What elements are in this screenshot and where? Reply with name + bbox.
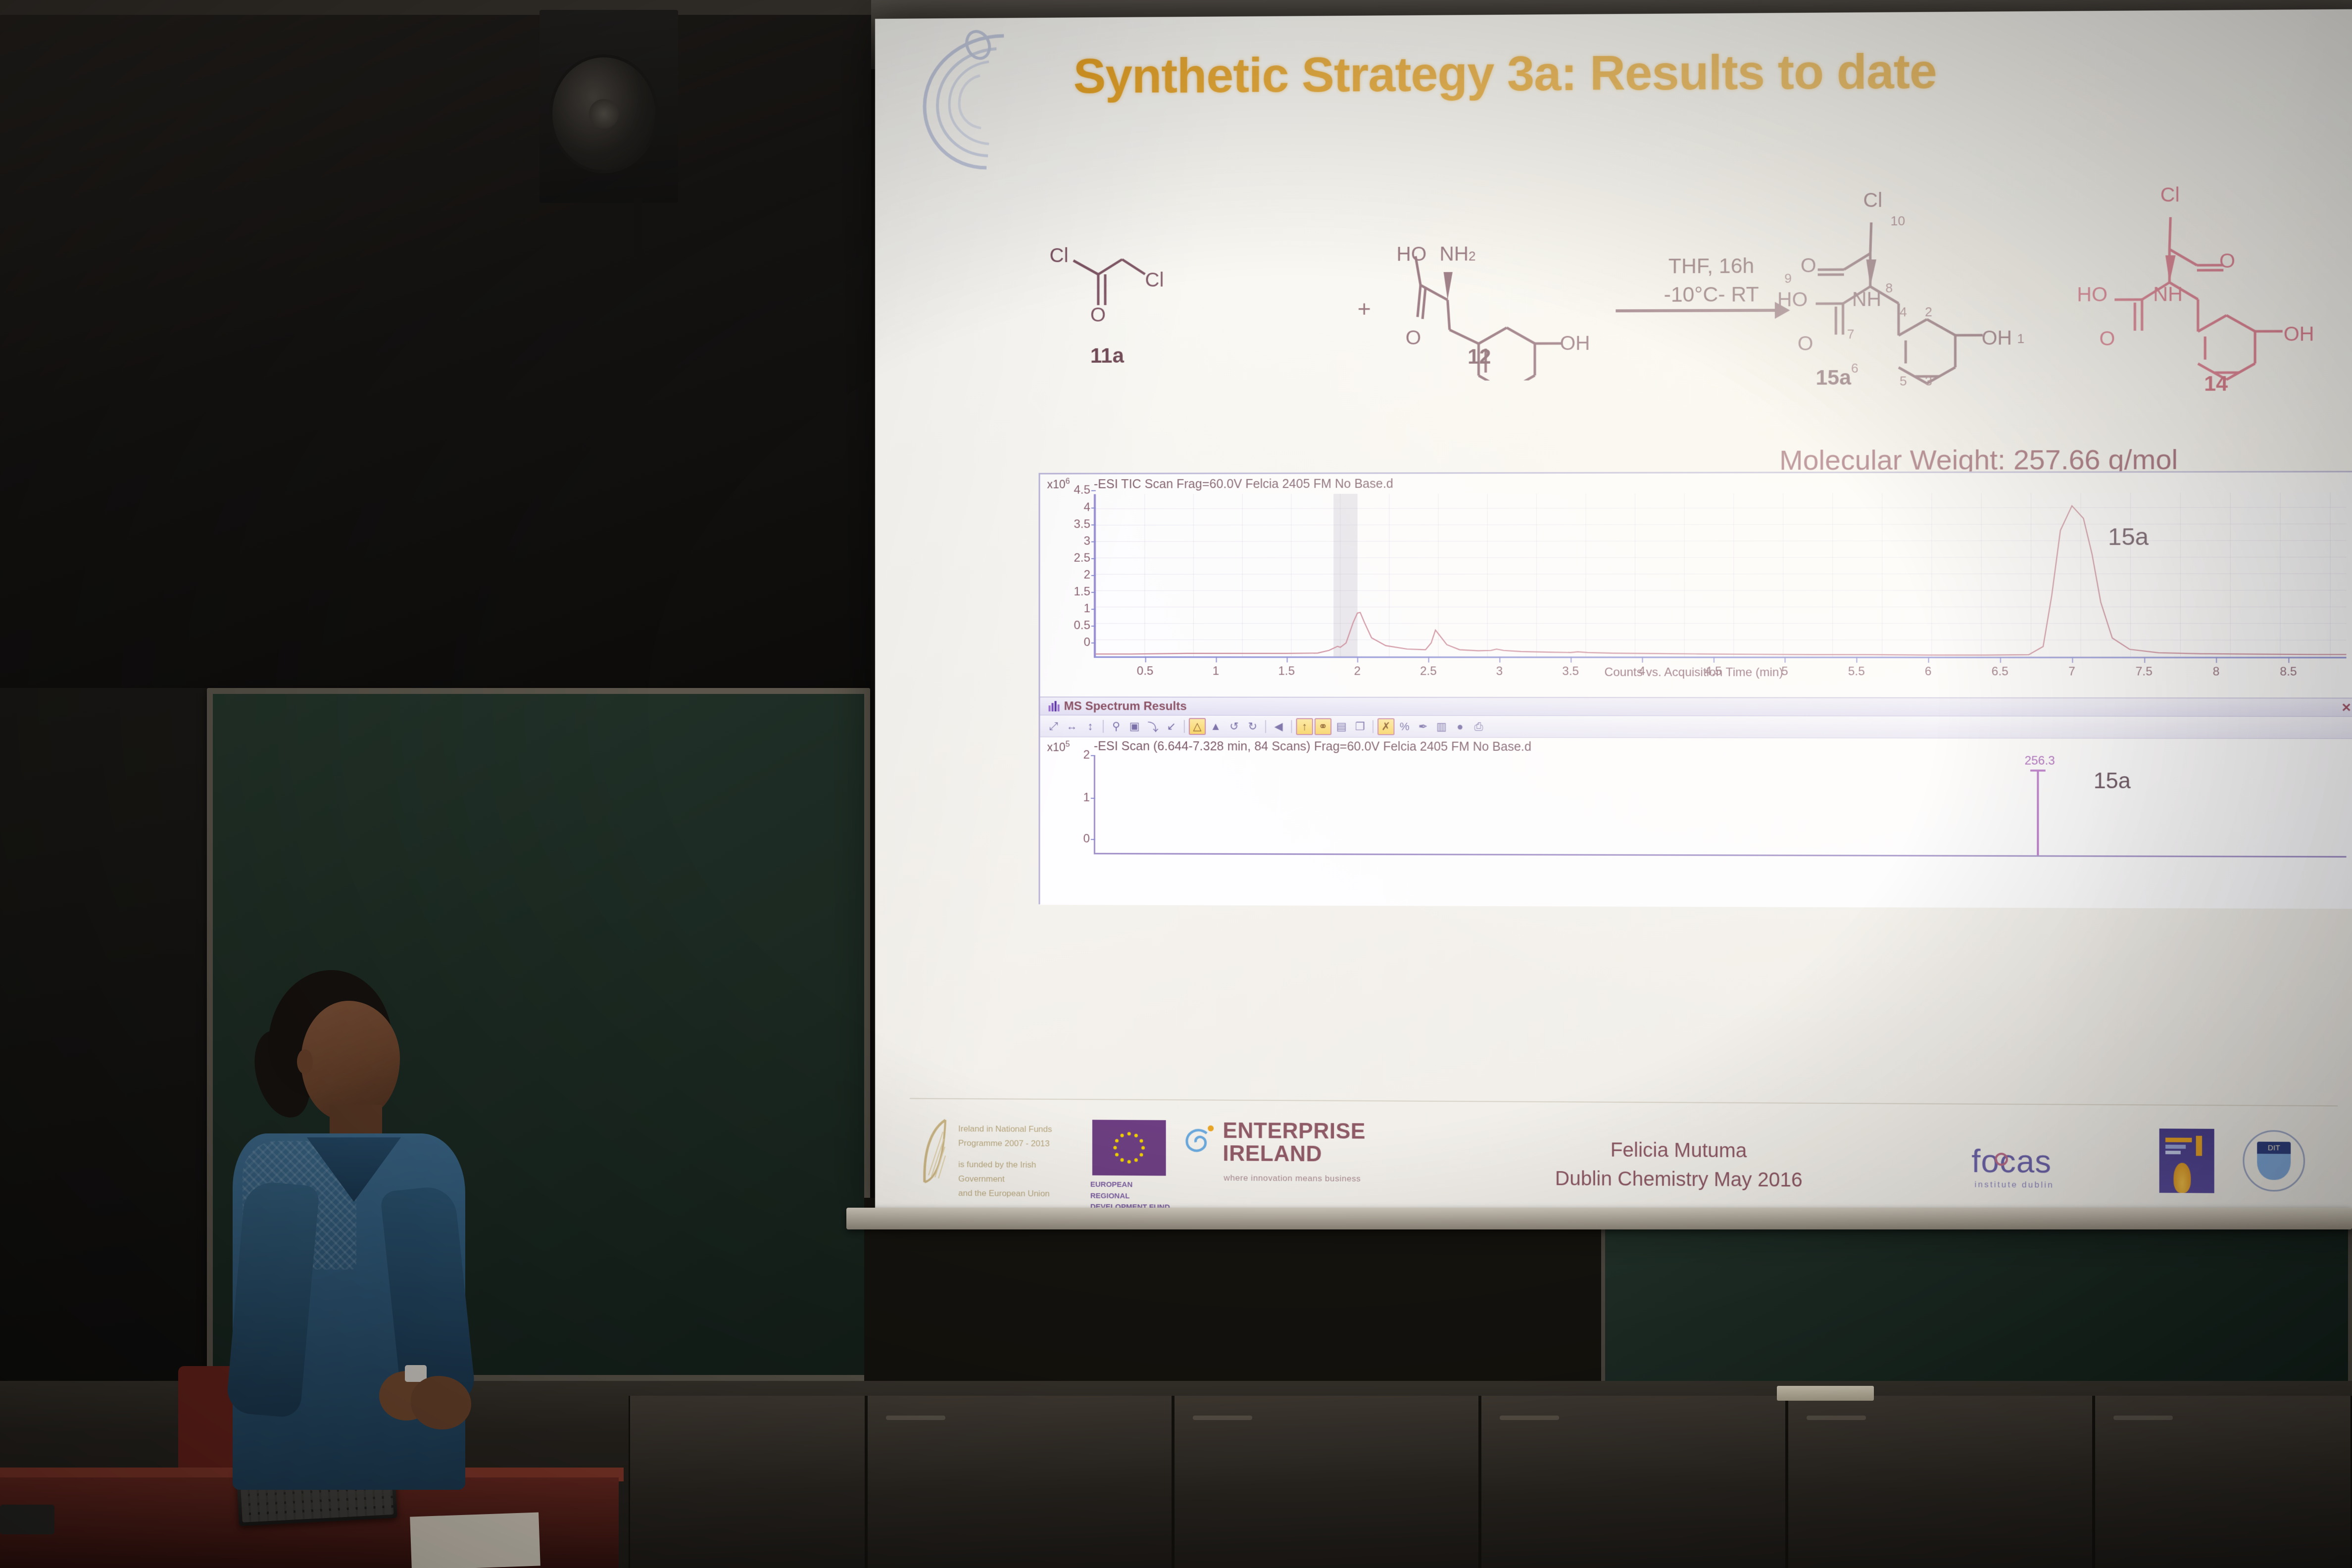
tic-x-tick: 3.5	[1562, 657, 1579, 679]
ring-number-4: 4	[1900, 304, 1907, 320]
atom-cl: Cl	[1145, 269, 1164, 292]
ms-spectrum-toolbar[interactable]: ⤢↔↕⚲▣⤵↙△▲↺↻◀↑⚭▤❐✗%✒▥●⎙	[1040, 715, 2352, 738]
chalk-eraser[interactable]	[1777, 1386, 1874, 1401]
enterprise-ireland-tagline: where innovation means business	[1224, 1173, 1361, 1184]
ring-number-6: 6	[1851, 360, 1859, 376]
paper-sheet	[410, 1512, 540, 1568]
atom-o: O	[1798, 333, 1813, 355]
presenter-event: Dublin Chemistry May 2016	[1437, 1164, 1920, 1195]
atom-cl: Cl	[1050, 245, 1069, 267]
ring-number-2: 2	[1925, 304, 1932, 320]
tic-x-tick: 8.5	[2280, 657, 2297, 679]
tic-trace	[1096, 492, 2347, 657]
tic-y-tick: 3	[1083, 534, 1095, 548]
ms-spectrum-panel: x105 -ESI Scan (6.644-7.328 min, 84 Scan…	[1040, 737, 2352, 909]
undo-icon[interactable]: ↺	[1225, 718, 1242, 735]
page-title: Synthetic Strategy 3a: Results to date	[1074, 42, 2195, 104]
cabinet-door[interactable]	[1173, 1396, 1480, 1568]
irish-harp-icon	[920, 1117, 951, 1186]
tic-y-tick: 4.5	[1074, 484, 1096, 497]
reaction-scheme: Cl Cl O 11a +	[1038, 200, 2348, 390]
tic-x-tick: 6	[1925, 657, 1932, 679]
toolbar-separator	[1103, 720, 1104, 733]
annotate-icon[interactable]: ✒	[1415, 718, 1431, 735]
dit-logo-bars	[2165, 1135, 2202, 1156]
palette-icon[interactable]: ●	[1452, 718, 1469, 735]
ring-number-10: 10	[1891, 213, 1906, 229]
back-arrow-icon[interactable]: ◀	[1270, 718, 1287, 735]
ms-plot-area[interactable]: 0 1 2 256.3 15a	[1094, 755, 2347, 858]
cabinet-handle[interactable]	[1193, 1416, 1252, 1420]
structure-14-bonds	[2105, 196, 2352, 388]
atom-oh: OH	[1560, 333, 1590, 355]
resize-icon[interactable]: ⤢	[1045, 718, 1062, 735]
ms-peak-stick: 256.3	[2037, 771, 2039, 855]
tic-y-tick: 4	[1083, 500, 1095, 514]
harp-text-line2: Programme 2007 - 2013	[958, 1136, 1082, 1151]
ceiling-band	[0, 0, 886, 15]
ring-number-3: 3	[1925, 373, 1932, 389]
tic-x-tick: 0.5	[1137, 656, 1154, 678]
toolbar-separator	[1372, 720, 1373, 733]
tic-y-tick: 0.5	[1074, 619, 1096, 633]
presenter-face	[301, 1001, 400, 1121]
ring-number-8: 8	[1885, 281, 1893, 296]
print-icon[interactable]: ⎙	[1470, 718, 1487, 735]
tic-y-tick: 2.5	[1074, 551, 1096, 565]
ms-mz-label: 256.3	[2024, 754, 2055, 768]
atom-oh: OH	[1982, 327, 2012, 350]
atom-o: O	[2099, 328, 2115, 350]
government-funding-text: Ireland in National Funds Programme 2007…	[958, 1122, 1082, 1201]
tic-header-text: -ESI TIC Scan Frag=60.0V Felcia 2405 FM …	[1094, 477, 1393, 491]
bar-chart-icon	[1048, 700, 1060, 711]
atom-oh: OH	[2284, 323, 2314, 346]
enterprise-line1: ENTERPRISE	[1223, 1120, 1366, 1143]
cabinet-handle[interactable]	[1500, 1416, 1559, 1420]
tic-y-exponent: x106	[1047, 477, 1070, 491]
tic-x-tick: 3	[1496, 657, 1503, 679]
atom-ho: HO	[2077, 284, 2107, 306]
atom-o: O	[1090, 304, 1106, 326]
ms-y-exponent: x105	[1047, 740, 1070, 754]
focas-subtitle: institute dublin	[1974, 1179, 2054, 1190]
atom-cl: Cl	[1863, 190, 1882, 212]
atom-o: O	[2219, 250, 2235, 273]
desk-object	[0, 1505, 54, 1534]
speaker-cone-icon	[549, 54, 658, 173]
tic-plot-area[interactable]: 15a 00.511.522.533.544.50.511.522.533.54…	[1094, 492, 2347, 658]
wall-upper	[0, 0, 871, 688]
reaction-conditions-line1: THF, 16h	[1628, 252, 1795, 281]
tic-x-tick: 5.5	[1848, 657, 1865, 679]
horizontal-expand-icon[interactable]: ↔	[1064, 718, 1080, 735]
ms-header-text: -ESI Scan (6.644-7.328 min, 84 Scans) Fr…	[1094, 739, 1531, 754]
enterprise-line2: IRELAND	[1223, 1142, 1366, 1166]
cabinet-handle[interactable]	[886, 1416, 945, 1420]
ring-number-7: 7	[1847, 327, 1855, 342]
integrate-peak-icon[interactable]: △	[1189, 718, 1206, 735]
toolbar-separator	[1291, 720, 1292, 733]
tic-x-tick: 1.5	[1278, 656, 1295, 678]
ms-y-tick: 0	[1083, 832, 1095, 846]
harp-text-line1: Ireland in National Funds	[958, 1122, 1082, 1137]
presenter	[233, 970, 539, 1490]
toolbar-separator	[1184, 720, 1185, 733]
ms-y-tick: 2	[1083, 748, 1095, 762]
close-icon[interactable]: ✕	[2341, 701, 2352, 715]
up-arrow-icon[interactable]: ↑	[1296, 718, 1313, 735]
tic-x-tick: 8	[2213, 657, 2220, 679]
chalkboard-surface-right	[1605, 1226, 2348, 1382]
autoscale-icon[interactable]: ⤵	[1144, 718, 1161, 735]
compound-label-15a: 15a	[1815, 366, 1851, 390]
tic-y-tick: 1	[1083, 602, 1095, 616]
speaker-stem	[634, 198, 642, 252]
enterprise-ireland-wordmark: ENTERPRISE IRELAND	[1223, 1120, 1366, 1166]
compound-label-12: 12	[1468, 344, 1491, 368]
ring-number-9: 9	[1784, 271, 1792, 286]
tic-y-tick: 0	[1083, 636, 1095, 649]
cabinet-handle[interactable]	[2113, 1416, 2173, 1420]
plus-sign: +	[1358, 295, 1371, 322]
screen-bottom-bar	[846, 1208, 2352, 1229]
ring-number-1: 1	[2017, 331, 2024, 346]
footer-divider	[910, 1098, 2338, 1106]
reaction-arrow-icon	[1616, 309, 1787, 312]
tic-y-tick: 3.5	[1074, 517, 1096, 531]
harp-text-line3: is funded by the Irish Government	[958, 1158, 1082, 1187]
link-icon[interactable]: ⚭	[1315, 718, 1331, 735]
percent-icon[interactable]: %	[1396, 718, 1413, 735]
atom-o: O	[1406, 327, 1421, 349]
enterprise-ireland-spiral-icon	[1183, 1123, 1216, 1156]
atom-nh2: NH2	[1440, 243, 1476, 266]
atom-nh: NH	[2153, 284, 2182, 306]
presenter-ear	[297, 1049, 313, 1074]
harp-text-line4: and the European Union	[958, 1186, 1082, 1201]
tic-y-tick: 2	[1083, 568, 1095, 582]
vertical-expand-icon[interactable]: ↕	[1082, 718, 1099, 735]
focas-o-ring-icon	[1995, 1153, 2008, 1166]
dit-flame-icon	[2173, 1163, 2191, 1193]
toolbar-separator	[1265, 720, 1266, 733]
tic-x-tick: 2	[1354, 656, 1361, 678]
atom-nh: NH	[1852, 289, 1881, 311]
redo-icon[interactable]: ↻	[1244, 718, 1261, 735]
presenter-name: Felicia Mutuma	[1437, 1134, 1920, 1166]
masshunter-window: x106 -ESI TIC Scan Frag=60.0V Felcia 240…	[1038, 471, 2352, 908]
eu-flag-icon	[1092, 1120, 1166, 1176]
baseline-icon[interactable]: ↙	[1163, 718, 1180, 735]
tic-y-tick: 1.5	[1074, 585, 1096, 599]
focas-wordmark: focas	[1971, 1142, 2052, 1180]
multi-peak-icon[interactable]: ▲	[1207, 718, 1224, 735]
crest-shield: DIT	[2257, 1142, 2291, 1180]
atom-ho: HO	[1777, 289, 1808, 311]
copy-icon[interactable]: ❐	[1352, 718, 1369, 735]
table-icon[interactable]: ▤	[1333, 718, 1350, 735]
reaction-conditions-line2: -10°C- RT	[1628, 280, 1795, 309]
zoom-icon[interactable]: ⚲	[1108, 718, 1125, 735]
compound-label-11a: 11a	[1090, 344, 1124, 368]
reaction-conditions: THF, 16h -10°C- RT	[1628, 252, 1795, 309]
tic-x-tick: 6.5	[1992, 657, 2009, 679]
swirl-decoration-icon	[905, 26, 1069, 186]
ms-spectrum-title-bar[interactable]: MS Spectrum Results ✕	[1040, 697, 2352, 717]
delete-icon[interactable]: ✗	[1377, 718, 1394, 735]
ms-spectrum-title: MS Spectrum Results	[1064, 699, 1187, 713]
cabinet-handle[interactable]	[1807, 1416, 1866, 1420]
tic-x-tick: 1	[1213, 656, 1219, 678]
university-crest-icon: DIT	[2243, 1130, 2305, 1192]
zoom-box-icon[interactable]: ▣	[1126, 718, 1143, 735]
ms-peak-annotation: 15a	[2094, 769, 2131, 794]
cabinet-door[interactable]	[866, 1396, 1173, 1568]
tic-x-tick: 7	[2068, 657, 2075, 679]
atom-ho: HO	[1397, 243, 1427, 266]
structure-11a-bonds	[1038, 230, 1252, 380]
eu-caption-line1: EUROPEAN REGIONAL	[1090, 1179, 1170, 1202]
tic-peak-annotation: 15a	[2108, 523, 2149, 551]
atom-cl: Cl	[2160, 184, 2180, 207]
cabinet-door[interactable]	[629, 1396, 866, 1568]
cabinet-door[interactable]	[2094, 1396, 2352, 1568]
compound-label-14: 14	[2204, 372, 2228, 396]
tic-x-tick: 7.5	[2136, 657, 2153, 679]
atom-o: O	[1801, 255, 1816, 278]
cabinet-door[interactable]	[1480, 1396, 1787, 1568]
wall-lower-left	[0, 688, 213, 1391]
presenter-credit: Felicia Mutuma Dublin Chemistry May 2016	[1437, 1134, 1920, 1195]
cabinet-door[interactable]	[1787, 1396, 2094, 1568]
ms-y-tick: 1	[1083, 791, 1095, 805]
tic-x-axis-title: Counts vs. Acquisition Time (min)	[1605, 666, 1783, 680]
projection-screen: Synthetic Strategy 3a: Results to date C…	[875, 9, 2352, 1228]
tic-x-tick: 2.5	[1420, 656, 1437, 678]
ms-peak-cap	[2030, 770, 2046, 772]
ring-number-5: 5	[1900, 374, 1907, 389]
chart-icon[interactable]: ▥	[1433, 718, 1450, 735]
tic-chromatogram-panel: x106 -ESI TIC Scan Frag=60.0V Felcia 240…	[1040, 472, 2352, 698]
